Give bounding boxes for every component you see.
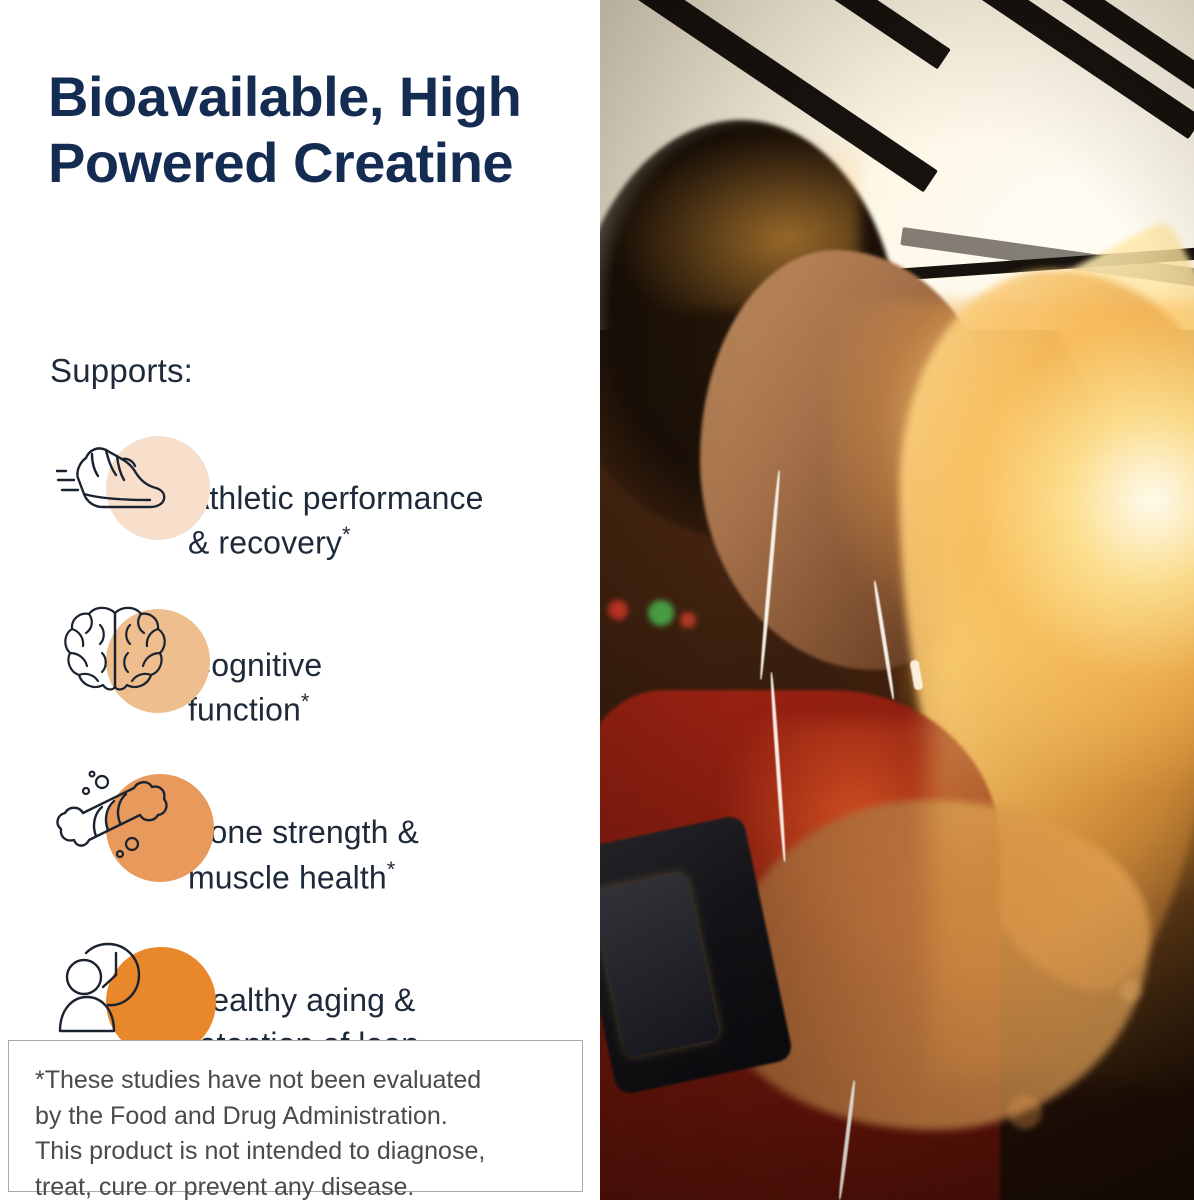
list-item: Cognitive function* [48, 591, 593, 732]
list-item: Athletic performance & recovery* [48, 424, 593, 565]
benefit-label: Bone strength & muscle health* [188, 758, 419, 899]
vignette [600, 0, 1194, 1200]
disclaimer-box: *These studies have not been evaluated b… [8, 1040, 583, 1192]
footnote-marker: * [342, 522, 351, 547]
supports-label: Supports: [50, 352, 193, 390]
benefit-label: Athletic performance & recovery* [188, 424, 483, 565]
benefits-list: Athletic performance & recovery* [48, 424, 593, 1111]
text-panel: Bioavailable, High Powered Creatine Supp… [0, 0, 600, 1200]
list-item: Bone strength & muscle health* [48, 758, 593, 899]
brain-icon [56, 597, 174, 707]
benefit-icon-container [48, 424, 188, 544]
disclaimer-text: *These studies have not been evaluated b… [35, 1063, 556, 1200]
running-shoe-icon [56, 428, 174, 528]
page-title: Bioavailable, High Powered Creatine [48, 64, 578, 196]
benefit-icon-container [48, 758, 188, 878]
footnote-marker: * [387, 857, 396, 882]
product-benefits-graphic: Bioavailable, High Powered Creatine Supp… [0, 0, 1194, 1200]
benefit-icon-container [48, 591, 188, 711]
hero-photo [600, 0, 1194, 1200]
bone-muscle-icon [56, 760, 180, 872]
footnote-marker: * [301, 689, 310, 714]
